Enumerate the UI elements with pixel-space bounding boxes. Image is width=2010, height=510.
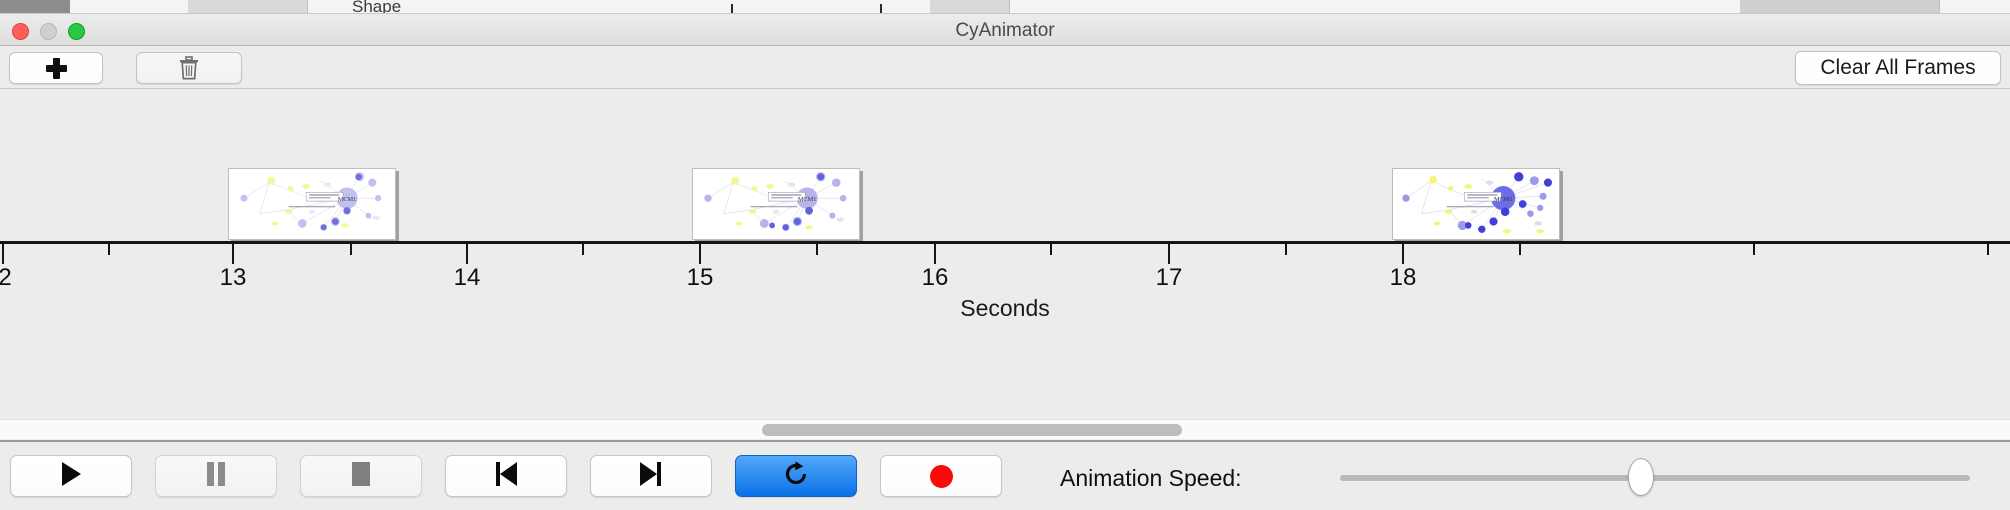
- record-button[interactable]: [880, 455, 1002, 497]
- timeline-tick-label-15: 15: [687, 264, 714, 292]
- timeline-major-tick: [934, 244, 936, 264]
- animation-speed-thumb[interactable]: [1628, 458, 1654, 496]
- network-preview-1: MCM1: [229, 169, 395, 239]
- clear-all-frames-label: Clear All Frames: [1820, 56, 1975, 80]
- frame-toolbar: Clear All Frames: [0, 46, 2010, 89]
- plus-icon: [46, 58, 67, 79]
- timeline-minor-tick: [1519, 244, 1521, 255]
- stop-icon: [349, 461, 373, 492]
- timeline-minor-tick: [1285, 244, 1287, 255]
- pause-icon: [205, 461, 227, 492]
- delete-frame-button[interactable]: [136, 52, 242, 84]
- timeline-minor-tick: [350, 244, 352, 255]
- frame-thumbnail-3[interactable]: MCM1: [1392, 168, 1560, 240]
- timeline-tick-label-14: 14: [454, 264, 481, 292]
- timeline-major-tick: [2, 244, 4, 264]
- svg-text:MCM1: MCM1: [798, 196, 817, 203]
- skip-to-end-icon: [638, 461, 664, 492]
- timeline-major-tick: [466, 244, 468, 264]
- timeline-tick-label-16: 16: [922, 264, 949, 292]
- clear-all-frames-button[interactable]: Clear All Frames: [1795, 51, 2001, 85]
- timeline-tick-label-18: 18: [1390, 264, 1417, 292]
- timeline-major-tick: [1402, 244, 1404, 264]
- timeline-minor-tick: [816, 244, 818, 255]
- frame-thumbnail-2[interactable]: MCM1: [692, 168, 860, 240]
- timeline-tick-label-13: 13: [220, 264, 247, 292]
- animation-speed-slider[interactable]: [1340, 467, 1970, 487]
- play-icon: [59, 461, 83, 492]
- pause-button[interactable]: [155, 455, 277, 497]
- timeline-minor-tick: [582, 244, 584, 255]
- frame-thumbnail-1[interactable]: MCM1: [228, 168, 396, 240]
- timeline-ruler-baseline: [0, 241, 2010, 244]
- network-preview-3: MCM1: [1393, 169, 1559, 239]
- play-button[interactable]: [10, 455, 132, 497]
- timeline-minor-tick: [1753, 244, 1755, 255]
- loop-button[interactable]: [735, 455, 857, 497]
- add-frame-button[interactable]: [9, 52, 103, 84]
- timeline-scrollbar-thumb[interactable]: [762, 424, 1182, 436]
- svg-text:MCM1: MCM1: [338, 196, 357, 203]
- svg-text:MCM1: MCM1: [1494, 196, 1513, 203]
- timeline-minor-tick: [108, 244, 110, 255]
- timeline-major-tick: [699, 244, 701, 264]
- timeline-tick-label-12: 2: [0, 264, 12, 292]
- background-window-label: Shape: [352, 0, 401, 14]
- timeline-panel[interactable]: MCM1: [0, 89, 2010, 415]
- animation-speed-label: Animation Speed:: [1060, 465, 1242, 492]
- animation-speed-track: [1340, 475, 1970, 481]
- window-title: CyAnimator: [0, 20, 2010, 42]
- trash-icon: [179, 56, 199, 80]
- previous-frame-button[interactable]: [445, 455, 567, 497]
- timeline-axis-title: Seconds: [0, 295, 2010, 322]
- skip-to-start-icon: [493, 461, 519, 492]
- timeline-horizontal-scrollbar[interactable]: [0, 419, 2010, 439]
- background-window-strip: Shape: [0, 0, 2010, 14]
- stop-button[interactable]: [300, 455, 422, 497]
- next-frame-button[interactable]: [590, 455, 712, 497]
- timeline-minor-tick: [1987, 244, 1989, 255]
- timeline-major-tick: [232, 244, 234, 264]
- timeline-major-tick: [1168, 244, 1170, 264]
- timeline-tick-label-17: 17: [1156, 264, 1183, 292]
- record-icon: [930, 465, 953, 488]
- loop-icon: [782, 460, 810, 493]
- network-preview-2: MCM1: [693, 169, 859, 239]
- playback-control-bar: Animation Speed:: [0, 440, 2010, 510]
- window-titlebar: CyAnimator: [0, 14, 2010, 46]
- timeline-minor-tick: [1050, 244, 1052, 255]
